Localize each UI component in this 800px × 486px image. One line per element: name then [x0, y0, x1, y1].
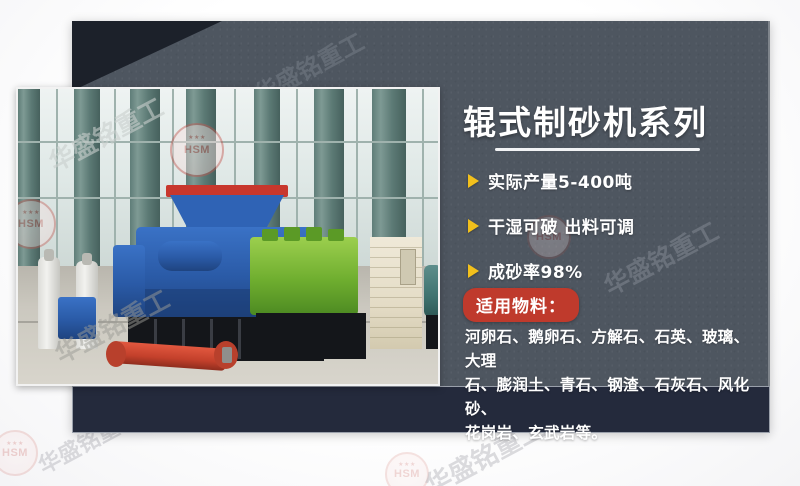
photo-small-blue-motor [58, 297, 96, 339]
photo-feed-hopper [170, 195, 284, 229]
photo-crusher-side-housing [113, 245, 145, 317]
photo-shaft-coupling [222, 347, 232, 363]
seal-stars-icon: ★★★ [398, 461, 416, 468]
feature-label: 实际产量5-400吨 [488, 168, 632, 193]
product-photo: ★★★ HSM ★★★ HSM 华盛铭重工 华盛铭重工 [16, 87, 440, 386]
photo-gas-cylinder-cap [44, 249, 54, 261]
photo-base-rib [238, 319, 241, 359]
arrow-right-icon [468, 174, 479, 188]
photo-wall-column [18, 89, 40, 272]
photo-cabinet-panel [400, 249, 416, 285]
photo-shaft-flange [106, 341, 126, 367]
arrow-right-icon [468, 264, 479, 278]
title-underline [495, 148, 700, 151]
feature-list: 实际产量5-400吨 干湿可破 出料可调 成砂率98% [468, 168, 758, 303]
photo-gearbox-cover [262, 229, 278, 241]
photo-gas-cylinder [38, 257, 60, 349]
watermark-seal-bottom-left: ★★★ HSM [0, 430, 38, 476]
materials-line: 河卵石、鹅卵石、方解石、石英、玻璃、大理 [465, 325, 761, 373]
seal-hsm-text: HSM [2, 447, 28, 459]
feature-item: 实际产量5-400吨 [468, 168, 758, 193]
poster-canvas: ★★★ HSM ★★★ HSM 华盛铭重工 华盛铭重工 ★★★ HSM 华盛铭重… [0, 0, 800, 486]
feature-label: 成砂率98% [488, 258, 583, 283]
materials-badge: 适用物料： [463, 288, 579, 322]
photo-gearbox-cover [306, 227, 322, 241]
materials-line: 花岗岩、玄武岩等。 [465, 421, 761, 445]
photo-gearbox-base [256, 313, 366, 359]
page-title: 辊式制砂机系列 [463, 96, 708, 144]
feature-item: 干湿可破 出料可调 [468, 213, 758, 238]
photo-gas-cylinder-cap [82, 253, 92, 265]
photo-gearbox-cover [328, 229, 344, 241]
photo-green-gearbox [250, 237, 358, 315]
photo-window-mullion [56, 89, 58, 272]
seal-hsm-text: HSM [394, 468, 420, 480]
materials-line: 石、膨润土、青石、钢渣、石灰石、风化砂、 [465, 373, 761, 421]
seal-stars-icon: ★★★ [6, 440, 24, 447]
photo-crusher-motor-drum [158, 241, 222, 271]
photo-window-transom [18, 141, 438, 143]
card-right-edge [768, 21, 770, 433]
photo-window-mullion [422, 89, 424, 272]
watermark-seal-bottom-center: ★★★ HSM [385, 452, 429, 486]
photo-motor-stand [426, 315, 440, 349]
photo-wall-column [74, 89, 100, 272]
materials-list: 河卵石、鹅卵石、方解石、石英、玻璃、大理 石、膨润土、青石、钢渣、石灰石、风化砂… [465, 325, 761, 445]
feature-label: 干湿可破 出料可调 [488, 213, 634, 238]
feature-item: 成砂率98% [468, 258, 758, 283]
photo-electric-motor [424, 265, 440, 317]
photo-gearbox-cover [284, 227, 300, 241]
arrow-right-icon [468, 219, 479, 233]
